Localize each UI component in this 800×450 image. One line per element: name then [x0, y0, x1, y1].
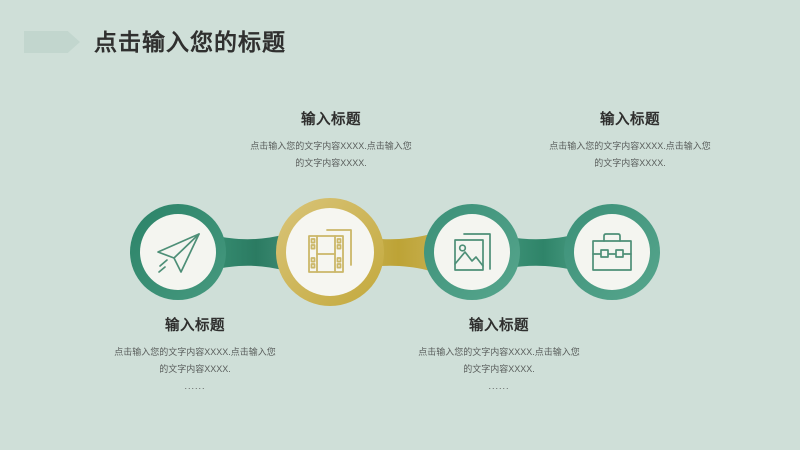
- node-1-ellipsis: ......: [60, 381, 330, 391]
- node-3-body-line-2: 的文字内容XXXX.: [364, 361, 634, 378]
- node-1-body-line-2: 的文字内容XXXX.: [60, 361, 330, 378]
- process-chain-diagram: [0, 190, 800, 315]
- slide-header: 点击输入您的标题: [0, 22, 800, 62]
- node-3-heading: 输入标题: [364, 314, 634, 335]
- page-title: 点击输入您的标题: [94, 22, 286, 62]
- node-3-body-line-1: 点击输入您的文字内容XXXX.点击输入您: [364, 344, 634, 361]
- node-1-heading: 输入标题: [60, 314, 330, 335]
- node-2-heading: 输入标题: [196, 108, 466, 129]
- node-3-text-block: 输入标题 点击输入您的文字内容XXXX.点击输入您 的文字内容XXXX. ...…: [364, 314, 634, 391]
- node-3[interactable]: [424, 204, 520, 300]
- node-4-text-block: 输入标题 点击输入您的文字内容XXXX.点击输入您 的文字内容XXXX.: [495, 108, 765, 171]
- node-1-text-block: 输入标题 点击输入您的文字内容XXXX.点击输入您 的文字内容XXXX. ...…: [60, 314, 330, 391]
- node-2-body-line-2: 的文字内容XXXX.: [196, 155, 466, 172]
- node-4[interactable]: [564, 204, 660, 300]
- node-1-body-line-1: 点击输入您的文字内容XXXX.点击输入您: [60, 344, 330, 361]
- node-2-text-block: 输入标题 点击输入您的文字内容XXXX.点击输入您 的文字内容XXXX.: [196, 108, 466, 171]
- node-1[interactable]: [130, 204, 226, 300]
- node-3-ellipsis: ......: [364, 381, 634, 391]
- node-4-body-line-1: 点击输入您的文字内容XXXX.点击输入您: [495, 138, 765, 155]
- title-tag-shape: [24, 31, 80, 53]
- node-2-body-line-1: 点击输入您的文字内容XXXX.点击输入您: [196, 138, 466, 155]
- node-4-body-line-2: 的文字内容XXXX.: [495, 155, 765, 172]
- node-2[interactable]: [276, 198, 384, 306]
- node-4-heading: 输入标题: [495, 108, 765, 129]
